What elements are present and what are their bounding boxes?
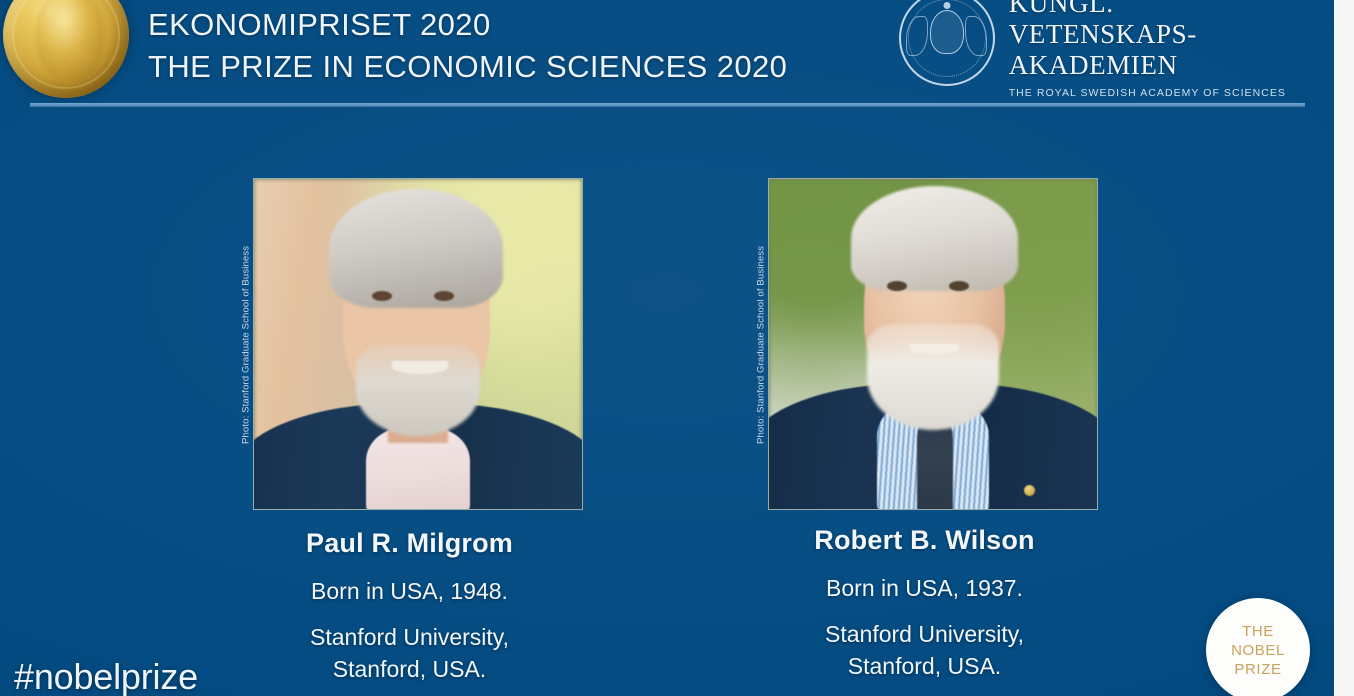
slide-header: EKONOMIPRISET 2020 THE PRIZE IN ECONOMIC… — [0, 0, 1334, 110]
laureate-name: Paul R. Milgrom — [306, 526, 513, 560]
portrait-hair — [851, 186, 1018, 292]
laureate-affiliation-line-2: Stanford, USA. — [814, 650, 1034, 682]
nobel-prize-roundel-logo: THE NOBEL PRIZE — [1206, 598, 1310, 696]
royal-academy-seal-icon — [899, 0, 995, 86]
medal-rim — [12, 0, 120, 89]
header-divider — [30, 103, 1305, 107]
roundel-text: THE NOBEL PRIZE — [1231, 622, 1285, 679]
prize-title-english: THE PRIZE IN ECONOMIC SCIENCES 2020 — [148, 46, 787, 88]
nobel-medal-icon — [3, 0, 129, 98]
academy-line-1: KUNGL. — [1009, 0, 1286, 19]
portrait-lapel-pin — [1024, 485, 1035, 496]
laureate-name: Robert B. Wilson — [814, 523, 1034, 557]
seal-crown-icon — [930, 10, 964, 54]
portrait-photo-wilson — [768, 178, 1098, 510]
royal-academy-lockup: KUNGL. VETENSKAPS- AKADEMIEN THE ROYAL S… — [899, 0, 1286, 99]
roundel-line-3: PRIZE — [1231, 660, 1285, 679]
photo-credit-milgrom: Photo: Stanford Graduate School of Busin… — [236, 178, 253, 512]
hashtag-nobelprize: #nobelprize — [14, 656, 198, 696]
seal-wing-left — [906, 16, 928, 56]
nobel-announcement-slide: EKONOMIPRISET 2020 THE PRIZE IN ECONOMIC… — [0, 0, 1334, 696]
laureate-affiliation-line-2: Stanford, USA. — [306, 653, 513, 685]
photo-with-credit: Photo: Stanford Graduate School of Busin… — [751, 178, 1098, 512]
laureate-birth: Born in USA, 1948. — [306, 576, 513, 606]
portrait-eye-left — [887, 281, 907, 291]
laureate-card-milgrom: Photo: Stanford Graduate School of Busin… — [237, 178, 582, 685]
roundel-line-2: NOBEL — [1231, 641, 1285, 660]
photo-credit-wilson: Photo: Stanford Graduate School of Busin… — [751, 178, 768, 512]
roundel-line-1: THE — [1231, 622, 1285, 641]
seal-wing-right — [965, 16, 987, 56]
photo-with-credit: Photo: Stanford Graduate School of Busin… — [236, 178, 583, 512]
broadcast-screenshot: EKONOMIPRISET 2020 THE PRIZE IN ECONOMIC… — [0, 0, 1354, 696]
portrait-beard — [356, 344, 481, 436]
academy-line-2: VETENSKAPS- — [1009, 19, 1286, 50]
frame-right-margin — [1334, 0, 1354, 696]
laureate-card-wilson: Photo: Stanford Graduate School of Busin… — [752, 178, 1097, 685]
laureate-caption-milgrom: Paul R. Milgrom Born in USA, 1948. Stanf… — [306, 526, 513, 685]
academy-subtitle: THE ROYAL SWEDISH ACADEMY OF SCIENCES — [1009, 87, 1286, 99]
laureate-birth: Born in USA, 1937. — [814, 573, 1034, 603]
portrait-photo-milgrom — [253, 178, 583, 510]
laureates-row: Photo: Stanford Graduate School of Busin… — [0, 178, 1334, 685]
royal-academy-wordmark: KUNGL. VETENSKAPS- AKADEMIEN THE ROYAL S… — [1009, 0, 1286, 99]
portrait-beard — [867, 324, 998, 430]
portrait-smile — [910, 344, 959, 354]
prize-titles: EKONOMIPRISET 2020 THE PRIZE IN ECONOMIC… — [148, 4, 787, 88]
laureate-affiliation-line-1: Stanford University, — [306, 621, 513, 653]
portrait-hair — [329, 189, 503, 308]
portrait-tie — [917, 417, 953, 510]
academy-line-3: AKADEMIEN — [1009, 50, 1286, 81]
portrait-eye-left — [372, 291, 392, 301]
portrait-smile — [392, 361, 448, 374]
laureate-affiliation-line-1: Stanford University, — [814, 618, 1034, 650]
laureate-caption-wilson: Robert B. Wilson Born in USA, 1937. Stan… — [814, 523, 1034, 682]
laureate-affiliation: Stanford University, Stanford, USA. — [306, 621, 513, 685]
prize-title-swedish: EKONOMIPRISET 2020 — [148, 4, 787, 46]
laureate-affiliation: Stanford University, Stanford, USA. — [814, 618, 1034, 682]
